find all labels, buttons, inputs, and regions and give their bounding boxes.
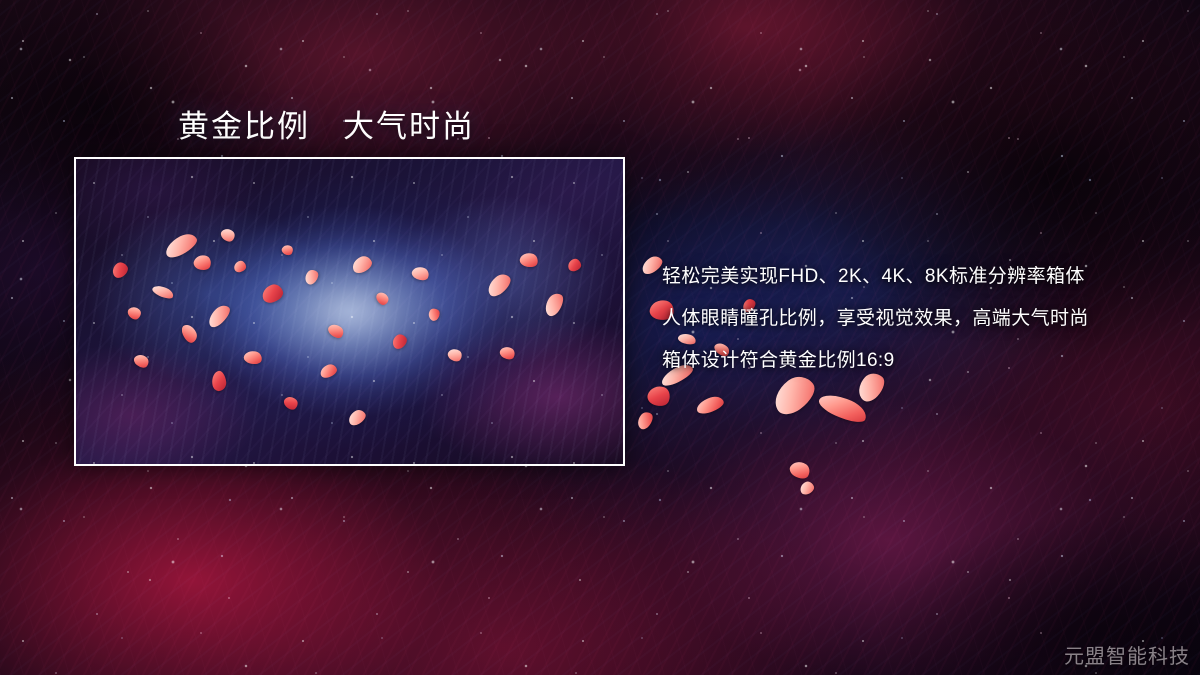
description-line-1: 轻松完美实现FHD、2K、4K、8K标准分辨率箱体 <box>662 256 1182 298</box>
page-title: 黄金比例 大气时尚 <box>178 101 475 146</box>
description-block: 轻松完美实现FHD、2K、4K、8K标准分辨率箱体 人体眼睛瞳孔比例，享受视觉效… <box>662 256 1182 382</box>
watermark: 元盟智能科技 <box>1064 640 1190 669</box>
image-frame <box>74 157 625 466</box>
description-line-2: 人体眼睛瞳孔比例，享受视觉效果，高端大气时尚 <box>662 298 1182 340</box>
description-line-3: 箱体设计符合黄金比例16:9 <box>662 340 1182 382</box>
presentation-slide: 黄金比例 大气时尚 <box>0 0 1200 675</box>
